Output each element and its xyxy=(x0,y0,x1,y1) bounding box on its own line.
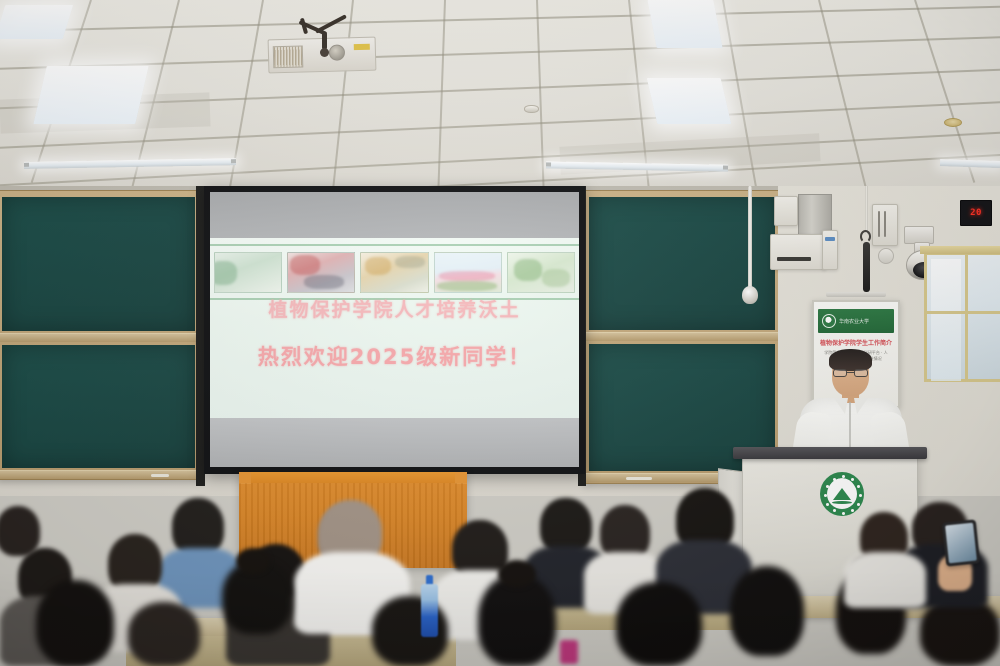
audience-head xyxy=(0,506,40,556)
audience-pink-accent xyxy=(560,640,578,664)
audience-head xyxy=(730,566,804,656)
banner-header: 华南农业大学 xyxy=(818,309,894,333)
slide-text: 植物保护学院人才培养沃土 热烈欢迎2025级新同学！ xyxy=(210,298,579,370)
right-chalkboard-mid-ledge xyxy=(586,332,778,341)
smartphone-screen xyxy=(945,523,977,564)
ceiling-panel-light xyxy=(0,5,73,39)
university-emblem xyxy=(820,472,864,516)
left-chalkboard-bottom-ledge xyxy=(0,470,198,479)
left-chalkboard-lower-panel xyxy=(2,345,195,468)
left-chalkboard xyxy=(0,190,201,480)
audience-head xyxy=(616,582,702,666)
ceiling-panel-light xyxy=(647,0,722,48)
slide-headline-1: 植物保护学院人才培养沃土 xyxy=(210,298,579,322)
slide-photo xyxy=(360,252,428,293)
ceiling-speaker xyxy=(944,118,962,127)
banner-top-bar xyxy=(826,292,886,297)
projection-screen-surface: 植物保护学院人才培养沃土 热烈欢迎2025级新同学！ xyxy=(210,192,579,467)
smartphone xyxy=(942,519,980,566)
speaker-collar-right xyxy=(854,398,868,414)
electrical-box-main xyxy=(770,234,826,270)
slide-headline-2: 热烈欢迎2025级新同学！ xyxy=(210,344,579,370)
audience-hair-bun xyxy=(236,548,270,574)
microphone-cable xyxy=(865,186,868,234)
lecture-hall-photo: 植物保护学院人才培养沃土 热烈欢迎2025级新同学！ xyxy=(0,0,1000,666)
banner-header-text: 华南农业大学 xyxy=(839,318,869,325)
podium-desktop-surface xyxy=(733,447,927,459)
projector-mount xyxy=(296,18,360,50)
speaker-glasses xyxy=(833,369,868,377)
led-display: 20 xyxy=(960,200,992,226)
banner-emblem-icon xyxy=(822,314,836,328)
electrical-box-side xyxy=(822,230,838,270)
screen-pull-rod-handle[interactable] xyxy=(742,286,758,304)
audience-head xyxy=(128,602,200,666)
left-chalkboard-mid-ledge xyxy=(0,333,198,342)
audience-hair-bun xyxy=(498,560,536,588)
audience-body xyxy=(844,552,926,608)
wall-speaker-small xyxy=(878,248,894,264)
slide-photo xyxy=(214,252,282,293)
projection-screen: 植物保护学院人才培养沃土 热烈欢迎2025级新同学！ xyxy=(204,186,585,474)
window-frame-trim xyxy=(920,246,1000,254)
ceiling-panel-light xyxy=(33,66,148,124)
side-window xyxy=(924,252,1000,382)
hanging-microphone xyxy=(863,242,870,292)
screen-bottom-band xyxy=(210,418,579,467)
led-display-text: 20 xyxy=(970,208,982,218)
screen-top-band xyxy=(210,192,579,238)
electrical-box-upper xyxy=(774,196,798,226)
banner-title-text: 植物保护学院学生工作简介 xyxy=(818,338,894,347)
blue-water-bottle xyxy=(421,575,438,637)
control-panel-box xyxy=(872,204,898,246)
ceiling-panel-light xyxy=(647,78,732,124)
slide-photo xyxy=(434,252,502,293)
speaker-collar-left xyxy=(834,398,848,414)
slide-photo xyxy=(507,252,575,293)
ceiling xyxy=(0,0,1000,192)
speaker-hair xyxy=(829,349,872,371)
slide-photo-strip xyxy=(214,252,575,293)
audience-head xyxy=(36,580,114,666)
emblem-dot-ring xyxy=(822,474,862,514)
left-chalkboard-upper-panel xyxy=(2,197,195,331)
screen-pull-rod[interactable] xyxy=(748,186,752,290)
smoke-detector xyxy=(524,105,539,113)
presentation-slide: 植物保护学院人才培养沃土 热烈欢迎2025级新同学！ xyxy=(210,238,579,419)
slide-photo xyxy=(287,252,355,293)
